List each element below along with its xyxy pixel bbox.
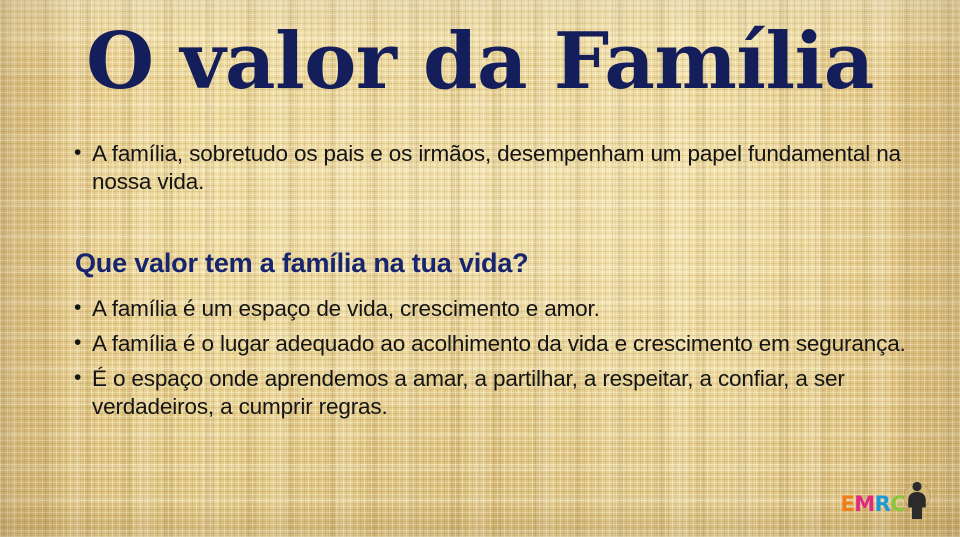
section-spacer [70,203,922,247]
slide-title: O valor da Família [0,14,960,110]
question-heading: Que valor tem a família na tua vida? [70,247,922,279]
slide-content: O valor da Família A família, sobretudo … [0,0,960,537]
list-item: A família é um espaço de vida, crescimen… [70,295,922,323]
answer-bullet-list: A família é um espaço de vida, crescimen… [70,295,922,421]
emrc-logo-wordmark: E M R C [841,494,905,520]
emrc-letter-m: M [854,494,874,515]
presentation-slide: O valor da Família A família, sobretudo … [0,0,960,537]
list-item: A família é o lugar adequado ao acolhime… [70,330,922,358]
emrc-person-silhouette-icon [902,476,932,520]
emrc-letter-e: E [841,494,855,515]
intro-bullet-list: A família, sobretudo os pais e os irmãos… [70,140,922,196]
list-item: A família, sobretudo os pais e os irmãos… [70,140,922,196]
slide-body: A família, sobretudo os pais e os irmãos… [70,140,922,428]
emrc-letter-r: R [875,494,891,515]
heading-spacer [70,279,922,295]
list-item: É o espaço onde aprendemos a amar, a par… [70,365,922,421]
emrc-logo: E M R C [841,474,932,520]
